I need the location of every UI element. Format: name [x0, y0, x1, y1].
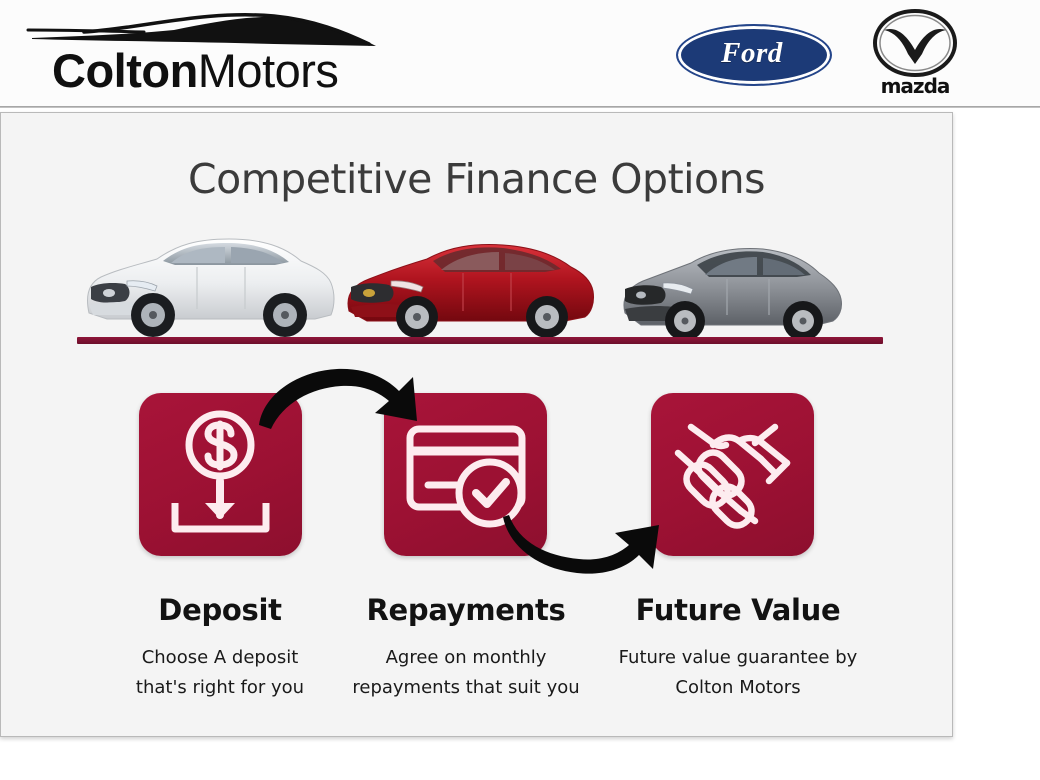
step-title-repayments: Repayments [316, 593, 616, 627]
car-lineup [1, 213, 952, 348]
step-desc-future-line2: Colton Motors [588, 673, 888, 703]
step-desc-future-value: Future value guarantee by Colton Motors [588, 643, 888, 703]
brand-name-bold: Colton [52, 44, 198, 97]
step-desc-repayments-line1: Agree on monthly [316, 643, 616, 673]
mazda-logo[interactable]: mazda [866, 8, 964, 104]
arrow-repayments-to-future-value [501, 511, 671, 591]
showroom-floor-line [77, 337, 883, 344]
brand-wordmark: ColtonMotors [52, 44, 338, 98]
arrow-deposit-to-repayments [253, 355, 433, 441]
brand-name-light: Motors [198, 44, 339, 97]
finance-options-card: Competitive Finance Options [0, 112, 953, 737]
header-divider [0, 106, 1040, 108]
car-white-suv [79, 225, 341, 345]
ford-logo[interactable]: Ford [676, 24, 828, 82]
step-desc-repayments-line2: repayments that suit you [316, 673, 616, 703]
page-header: ColtonMotors Ford mazda [0, 0, 1040, 108]
colton-motors-logo[interactable]: ColtonMotors [24, 6, 384, 102]
step-title-future-value: Future Value [588, 593, 888, 627]
mazda-wordmark: mazda [866, 74, 964, 98]
car-grey-hatchback [617, 239, 853, 347]
mazda-wings-icon [872, 8, 958, 78]
handshake-icon [651, 393, 814, 556]
ford-label: Ford [676, 24, 828, 82]
page-title: Competitive Finance Options [1, 155, 952, 203]
step-tile-future-value[interactable] [651, 393, 814, 556]
step-desc-future-line1: Future value guarantee by [588, 643, 888, 673]
car-red-sedan [341, 231, 599, 346]
step-desc-repayments: Agree on monthly repayments that suit yo… [316, 643, 616, 703]
